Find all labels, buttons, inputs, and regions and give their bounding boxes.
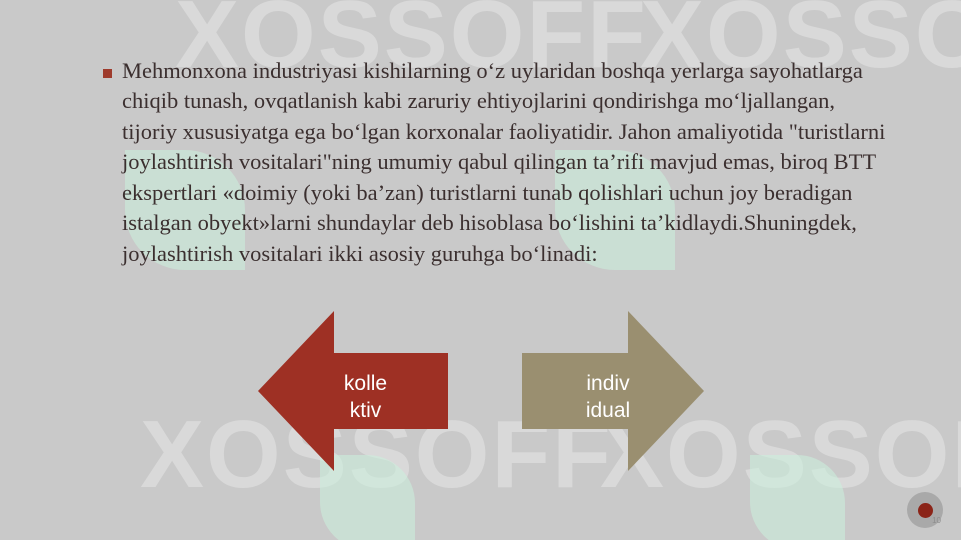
square-bullet-icon	[103, 69, 112, 78]
bullet-block: Mehmonxona industriyasi kishilarning o‘z…	[100, 56, 890, 269]
left-arrow-shape[interactable]: kolle ktiv	[258, 311, 448, 471]
corner-dot-icon	[918, 503, 933, 518]
right-arrow-label: indiv idual	[558, 371, 658, 425]
leaf-decoration-icon	[750, 455, 845, 540]
bullet-paragraph: Mehmonxona industriyasi kishilarning o‘z…	[122, 56, 890, 269]
right-arrow-shape[interactable]: indiv idual	[522, 311, 704, 471]
slide-canvas: XOSSOFF XOSSOFF XOSSOFF XOSSOFF Mehmonxo…	[0, 0, 961, 540]
slide-corner-button[interactable]: 10	[907, 492, 943, 528]
slide-number: 10	[932, 516, 941, 525]
left-arrow-label: kolle ktiv	[318, 371, 413, 425]
